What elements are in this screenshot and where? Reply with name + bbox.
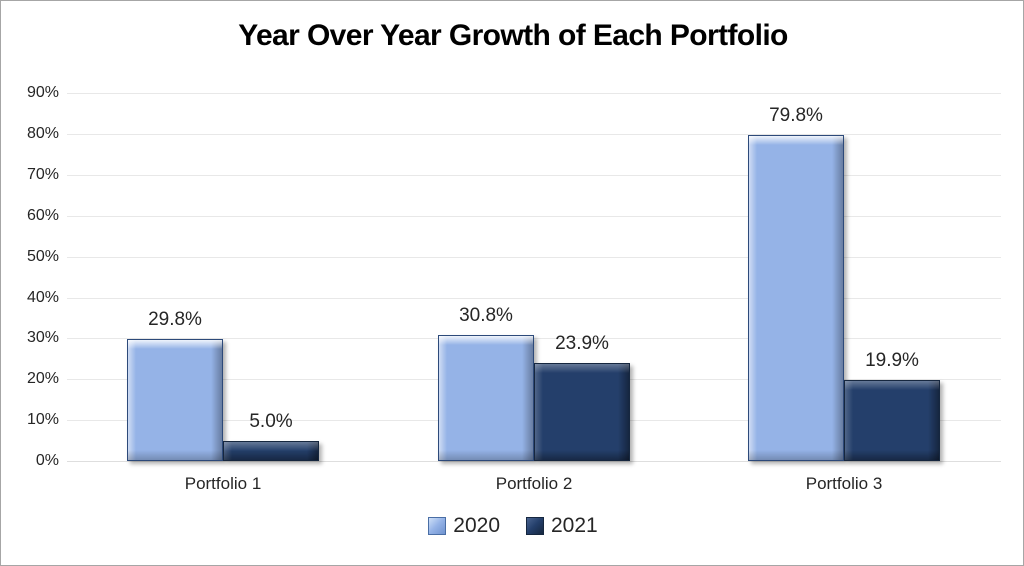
y-axis: 90% 80% 70% 60% 50% 40% 30% 20% 10% 0%: [1, 93, 59, 461]
legend-label-2021: 2021: [551, 515, 598, 536]
bar-portfolio-3-2021[interactable]: [844, 380, 940, 461]
y-tick-40: 40%: [7, 289, 59, 307]
y-tick-60: 60%: [7, 207, 59, 225]
bar-face: [127, 339, 223, 461]
bar-portfolio-1-2020[interactable]: [127, 339, 223, 461]
category-label-portfolio-3: Portfolio 3: [806, 474, 883, 494]
chart-container: Year Over Year Growth of Each Portfolio …: [0, 0, 1024, 566]
category-label-portfolio-1: Portfolio 1: [185, 474, 262, 494]
gridline-60: [67, 216, 1001, 217]
category-label-portfolio-2: Portfolio 2: [496, 474, 573, 494]
data-label-portfolio-2-2020: 30.8%: [459, 305, 513, 327]
plot-area: 29.8% 5.0% 30.8% 23.9% 79.8% 19.9%: [67, 93, 1001, 461]
bar-portfolio-3-2020[interactable]: [748, 135, 844, 461]
gridline-80: [67, 134, 1001, 135]
y-tick-50: 50%: [7, 248, 59, 266]
gridline-70: [67, 175, 1001, 176]
bar-face: [223, 441, 319, 461]
gridline-40: [67, 298, 1001, 299]
gridline-90: [67, 93, 1001, 94]
y-tick-70: 70%: [7, 166, 59, 184]
y-tick-0: 0%: [7, 452, 59, 470]
data-label-portfolio-1-2021: 5.0%: [249, 411, 292, 433]
bar-portfolio-2-2021[interactable]: [534, 363, 630, 461]
legend-swatch-icon-2021: [526, 517, 544, 535]
data-label-portfolio-2-2021: 23.9%: [555, 333, 609, 355]
chart-legend: 2020 2021: [1, 515, 1024, 536]
data-label-portfolio-1-2020: 29.8%: [148, 309, 202, 331]
y-tick-10: 10%: [7, 411, 59, 429]
bar-portfolio-1-2021[interactable]: [223, 441, 319, 461]
bar-face: [748, 135, 844, 461]
legend-label-2020: 2020: [453, 515, 500, 536]
y-tick-30: 30%: [7, 329, 59, 347]
bar-portfolio-2-2020[interactable]: [438, 335, 534, 461]
y-tick-80: 80%: [7, 125, 59, 143]
bar-face: [534, 363, 630, 461]
gridline-50: [67, 257, 1001, 258]
y-tick-90: 90%: [7, 84, 59, 102]
bar-face: [844, 380, 940, 461]
legend-entry-2020[interactable]: 2020: [428, 515, 500, 536]
gridline-baseline: [67, 461, 1001, 462]
data-label-portfolio-3-2021: 19.9%: [865, 350, 919, 372]
legend-entry-2021[interactable]: 2021: [526, 515, 598, 536]
legend-swatch-icon-2020: [428, 517, 446, 535]
chart-title: Year Over Year Growth of Each Portfolio: [1, 19, 1024, 53]
bar-face: [438, 335, 534, 461]
data-label-portfolio-3-2020: 79.8%: [769, 105, 823, 127]
y-tick-20: 20%: [7, 370, 59, 388]
